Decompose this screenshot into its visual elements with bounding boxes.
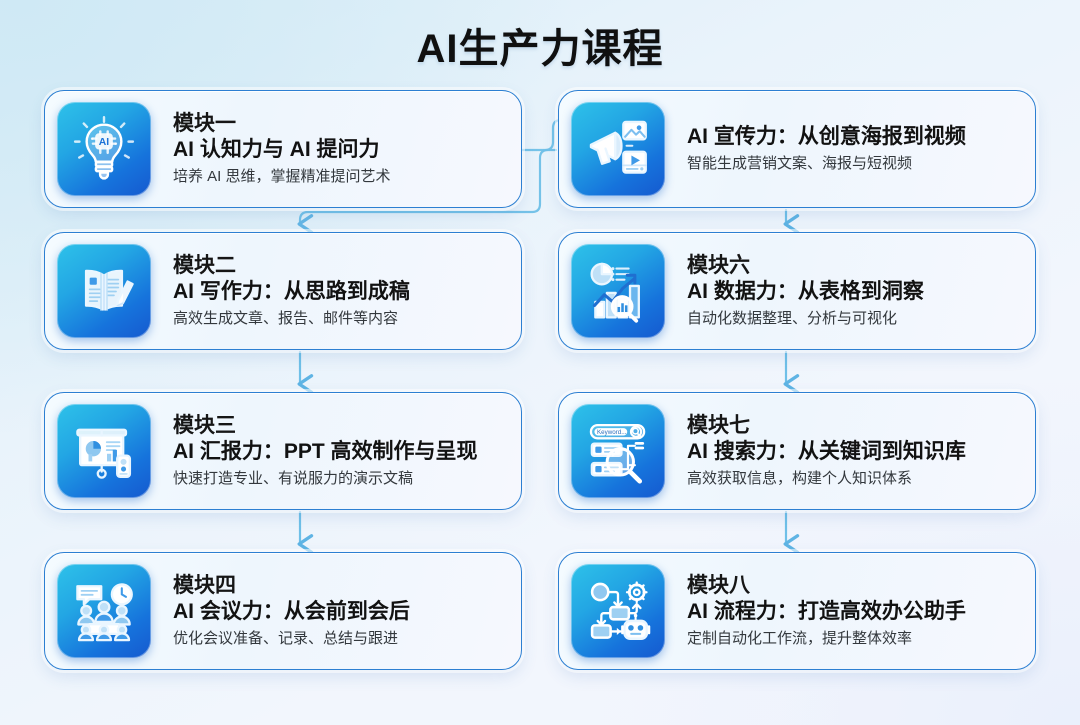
module-card-1[interactable]: AI 模块一 AI 认知力与 AI 提问力 培养 AI 思维，掌握精准提问艺术 — [44, 90, 522, 208]
module-card-4[interactable]: 模块四 AI 会议力：从会前到会后 优化会议准备、记录、总结与跟进 — [44, 552, 522, 670]
svg-text:AI: AI — [99, 137, 110, 148]
module-label: 模块二 — [173, 253, 507, 279]
module-card-2[interactable]: 模块二 AI 写作力：从思路到成稿 高效生成文章、报告、邮件等内容 — [44, 232, 522, 350]
module-card-8-text: 模块八 AI 流程力：打造高效办公助手 定制自动化工作流，提升整体效率 — [665, 573, 1035, 650]
module-title: AI 数据力：从表格到洞察 — [687, 278, 1021, 305]
module-title: AI 会议力：从会前到会后 — [173, 598, 507, 625]
module-card-1-text: 模块一 AI 认知力与 AI 提问力 培养 AI 思维，掌握精准提问艺术 — [151, 111, 521, 188]
module-label: 模块七 — [687, 413, 1021, 439]
icon-search-placeholder: Keyword... — [597, 429, 627, 436]
module-subtitle: 自动化数据整理、分析与可视化 — [687, 308, 1021, 330]
module-card-5-text: AI 宣传力：从创意海报到视频 智能生成营销文案、海报与短视频 — [665, 123, 1035, 174]
module-subtitle: 智能生成营销文案、海报与短视频 — [687, 153, 1021, 175]
module-title: AI 写作力：从思路到成稿 — [173, 278, 507, 305]
module-subtitle: 定制自动化工作流，提升整体效率 — [687, 628, 1021, 650]
module-subtitle: 优化会议准备、记录、总结与跟进 — [173, 628, 507, 650]
module-label: 模块四 — [173, 573, 507, 599]
module-card-6-text: 模块六 AI 数据力：从表格到洞察 自动化数据整理、分析与可视化 — [665, 253, 1035, 330]
module-card-3-text: 模块三 AI 汇报力：PPT 高效制作与呈现 快速打造专业、有说服力的演示文稿 — [151, 413, 521, 490]
notebook-pen-icon — [57, 244, 151, 338]
connector-1-to-5 — [522, 120, 561, 150]
workflow-robot-icon — [571, 564, 665, 658]
module-subtitle: 高效获取信息，构建个人知识体系 — [687, 468, 1021, 490]
module-card-4-text: 模块四 AI 会议力：从会前到会后 优化会议准备、记录、总结与跟进 — [151, 573, 521, 650]
module-title: AI 搜索力：从关键词到知识库 — [687, 438, 1021, 465]
infographic-canvas: AI生产力课程 AI — [0, 0, 1080, 725]
module-label: 模块三 — [173, 413, 507, 439]
presentation-screen-icon — [57, 404, 151, 498]
module-title: AI 认知力与 AI 提问力 — [173, 136, 507, 163]
module-card-7[interactable]: Keyword... 模块七 AI 搜索力：从关键词到知识库 高效获取信息，构 — [558, 392, 1036, 510]
module-title: AI 流程力：打造高效办公助手 — [687, 598, 1021, 625]
module-card-3[interactable]: 模块三 AI 汇报力：PPT 高效制作与呈现 快速打造专业、有说服力的演示文稿 — [44, 392, 522, 510]
megaphone-media-icon — [571, 102, 665, 196]
lightbulb-ai-icon: AI — [57, 102, 151, 196]
module-card-2-text: 模块二 AI 写作力：从思路到成稿 高效生成文章、报告、邮件等内容 — [151, 253, 521, 330]
module-subtitle: 高效生成文章、报告、邮件等内容 — [173, 308, 507, 330]
module-card-8[interactable]: 模块八 AI 流程力：打造高效办公助手 定制自动化工作流，提升整体效率 — [558, 552, 1036, 670]
module-label: 模块八 — [687, 573, 1021, 599]
module-card-7-text: 模块七 AI 搜索力：从关键词到知识库 高效获取信息，构建个人知识体系 — [665, 413, 1035, 490]
module-card-6[interactable]: 模块六 AI 数据力：从表格到洞察 自动化数据整理、分析与可视化 — [558, 232, 1036, 350]
page-title: AI生产力课程 — [0, 16, 1080, 74]
meeting-people-icon — [57, 564, 151, 658]
module-title: AI 汇报力：PPT 高效制作与呈现 — [173, 438, 507, 465]
search-knowledge-icon: Keyword... — [571, 404, 665, 498]
module-subtitle: 快速打造专业、有说服力的演示文稿 — [173, 468, 507, 490]
module-label: 模块一 — [173, 111, 507, 137]
module-card-5[interactable]: AI 宣传力：从创意海报到视频 智能生成营销文案、海报与短视频 — [558, 90, 1036, 208]
module-subtitle: 培养 AI 思维，掌握精准提问艺术 — [173, 166, 507, 188]
chart-analytics-icon — [571, 244, 665, 338]
module-label: 模块六 — [687, 253, 1021, 279]
module-title: AI 宣传力：从创意海报到视频 — [687, 123, 1021, 150]
